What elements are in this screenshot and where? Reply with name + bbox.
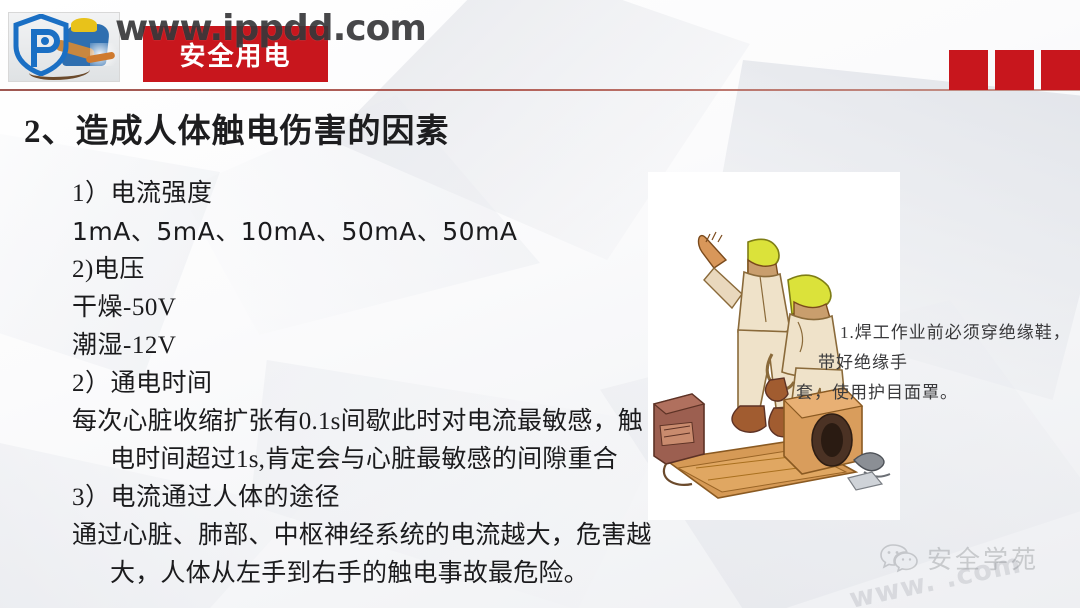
list-item-paragraph-4: 通过心脏、肺部、中枢神经系统的电流越大，危害越 大，人体从左手到右手的触电事故最…: [72, 517, 672, 593]
decor-square: [1041, 50, 1080, 90]
slide-header: 安全用电 www.ippdd.com: [0, 0, 1080, 92]
wechat-icon: [880, 543, 918, 573]
list-item-label-4: 3）电流通过人体的途径: [72, 479, 672, 517]
list-item-label-1: 1）电流强度: [72, 175, 672, 213]
list-item-label-2: 2)电压: [72, 251, 672, 289]
header-divider: [0, 89, 1080, 91]
page-title: 2、造成人体触电伤害的因素: [24, 104, 450, 152]
paragraph-line: 通过心脏、肺部、中枢神经系统的电流越大，危害越: [72, 522, 652, 549]
caption-line: 套，使用护目面罩。: [796, 378, 1080, 408]
slide-canvas: 安全用电 www.ippdd.com 2、造成人体触电伤害的因素 1）电流强度 …: [0, 0, 1080, 608]
list-item-wet-voltage: 潮湿-12V: [72, 327, 672, 365]
header-decor-squares: [949, 50, 1080, 90]
illustration-caption: 1.焊工作业前必须穿绝缘鞋，带好绝缘手 套，使用护目面罩。: [818, 318, 1080, 408]
paragraph-line: 电时间超过1s,肯定会与心脏最敏感的间隙重合: [72, 441, 672, 479]
paragraph-line: 每次心脏收缩扩张有0.1s间歇此时对电流最敏感，触: [72, 408, 643, 435]
decor-square: [949, 50, 988, 90]
shield-p-logo-icon: [12, 14, 70, 76]
slide-body: 1）电流强度 1mA、5mA、10mA、50mA、50mA 2)电压 干燥-50…: [72, 175, 672, 593]
url-watermark-text: www.ippdd.com: [115, 8, 426, 49]
caption-line: 1.焊工作业前必须穿绝缘鞋，带好绝缘手: [818, 318, 1080, 378]
decor-square: [995, 50, 1034, 90]
list-item-dry-voltage: 干燥-50V: [72, 289, 672, 327]
list-item-paragraph-3: 每次心脏收缩扩张有0.1s间歇此时对电流最敏感，触 电时间超过1s,肯定会与心脏…: [72, 403, 672, 479]
paragraph-line: 大，人体从左手到右手的触电事故最危险。: [72, 555, 672, 593]
list-item-label-3: 2）通电时间: [72, 365, 672, 403]
list-item-values-1: 1mA、5mA、10mA、50mA、50mA: [72, 213, 672, 251]
